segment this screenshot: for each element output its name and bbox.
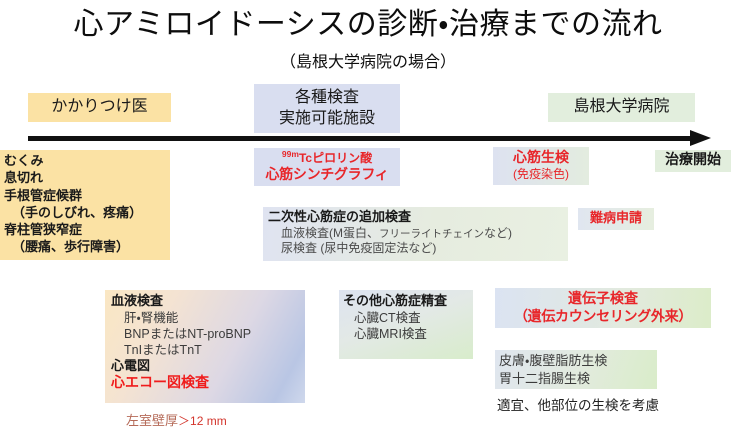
other-workup-heading: その他心筋症精査	[343, 293, 473, 310]
slide-canvas: 心アミロイドーシスの診断・治療までの流れ （島根大学病院の場合） かかりつけ医 …	[0, 0, 736, 439]
genetic-testing-line1: 遺伝子検査	[495, 290, 711, 308]
treatment-start-label: 治療開始	[665, 151, 721, 167]
header-box-test-facility: 各種検査 実施可能施設	[254, 84, 400, 133]
timeline-arrow-head-icon	[690, 130, 711, 146]
secondary-cardiomyopathy-box: 二次性心筋症の追加検査 血液検査(M蛋白、フリーライトチェインなど) 尿検査 (…	[263, 207, 568, 261]
header-facility-line1: 各種検査	[254, 87, 400, 108]
treatment-start-box: 治療開始	[655, 150, 731, 172]
symptom-item: 手根管症候群	[4, 187, 170, 204]
header-gp-label: かかりつけ医	[51, 98, 147, 115]
blood-panel-ecg: 心電図	[111, 358, 305, 375]
header-box-gp-clinic: かかりつけ医	[28, 93, 171, 122]
blood-panel-item: 肝・腎機能	[111, 310, 305, 326]
genetic-testing-box: 遺伝子検査 （遺伝カウンセリング外来）	[495, 288, 711, 328]
page-subtitle: （島根大学病院の場合）	[0, 48, 736, 72]
other-workup-item: 心臓CT検査	[343, 310, 473, 326]
timeline-arrow-line	[28, 136, 694, 141]
header-facility-line2: 実施可能施設	[254, 108, 400, 129]
biopsy-site-item: 胃十二指腸生検	[499, 370, 657, 388]
symptom-item: むくみ	[4, 152, 170, 169]
secondary-urine-test-line: 尿検査 (尿中免疫固定法など)	[268, 241, 568, 256]
scintigraphy-box: 99mTcピロリン酸 心筋シンチグラフィ	[254, 148, 400, 186]
secondary-blood-detail-tail: など)	[484, 226, 512, 240]
header-box-university-hospital: 島根大学病院	[548, 93, 695, 122]
symptoms-box: むくみ 息切れ 手根管症候群 （手のしびれ、疼痛） 脊柱管狭窄症 （腰痛、歩行障…	[0, 150, 170, 260]
secondary-heading: 二次性心筋症の追加検査	[268, 209, 568, 226]
symptom-item-detail: （腰痛、歩行障害）	[4, 238, 170, 255]
biopsy-sites-note: 適宜、他部位の生検を考慮	[497, 394, 659, 414]
other-workup-item: 心臓MRI検査	[343, 326, 473, 342]
blood-panel-echo: 心エコー図検査	[111, 374, 305, 392]
myocardial-biopsy-box: 心筋生検 (免疫染色)	[493, 147, 589, 185]
symptom-item: 脊柱管狭窄症	[4, 221, 170, 238]
scintigraphy-agent: ピロリン酸	[312, 151, 372, 165]
other-cardiomyopathy-workup-box: その他心筋症精査 心臓CT検査 心臓MRI検査	[339, 290, 473, 359]
biopsy-sites-box: 皮膚・腹壁脂肪生検 胃十二指腸生検	[495, 350, 657, 389]
intractable-disease-label: 難病申請	[590, 210, 642, 225]
isotope-symbol: Tc	[299, 151, 312, 165]
blood-panel-item: TnIまたはTnT	[111, 342, 305, 358]
secondary-blood-detail: (M蛋白、	[329, 226, 379, 240]
blood-panel-box: 血液検査 肝・腎機能 BNPまたはNT-proBNP TnIまたはTnT 心電図…	[105, 290, 305, 403]
secondary-blood-test-line: 血液検査(M蛋白、フリーライトチェインなど)	[268, 226, 568, 241]
myocardial-biopsy-note: (免疫染色)	[493, 167, 589, 182]
genetic-testing-line2: （遺伝カウンセリング外来）	[495, 308, 711, 326]
page-title: 心アミロイドーシスの診断・治療までの流れ	[0, 8, 736, 42]
symptom-item-detail: （手のしびれ、疼痛）	[4, 204, 170, 221]
symptom-item: 息切れ	[4, 169, 170, 186]
lv-wall-thickness-value: ＞12 mm	[178, 414, 227, 428]
scintigraphy-line2: 心筋シンチグラフィ	[254, 166, 400, 184]
secondary-blood-detail-narrow: フリーライトチェイン	[379, 228, 484, 240]
header-university-label: 島根大学病院	[573, 98, 669, 115]
blood-panel-heading: 血液検査	[111, 293, 305, 310]
lv-wall-thickness-label: 左室壁厚	[126, 413, 178, 428]
lv-wall-thickness-note: 左室壁厚＞12 mm	[126, 410, 316, 429]
intractable-disease-application-box: 難病申請	[578, 208, 654, 230]
secondary-blood-label: 血液検査	[281, 226, 329, 240]
isotope-superscript: 99m	[282, 149, 299, 159]
myocardial-biopsy-title: 心筋生検	[493, 149, 589, 167]
scintigraphy-line1: 99mTcピロリン酸	[254, 151, 400, 166]
biopsy-site-item: 皮膚・腹壁脂肪生検	[499, 352, 657, 370]
blood-panel-item: BNPまたはNT-proBNP	[111, 326, 305, 342]
